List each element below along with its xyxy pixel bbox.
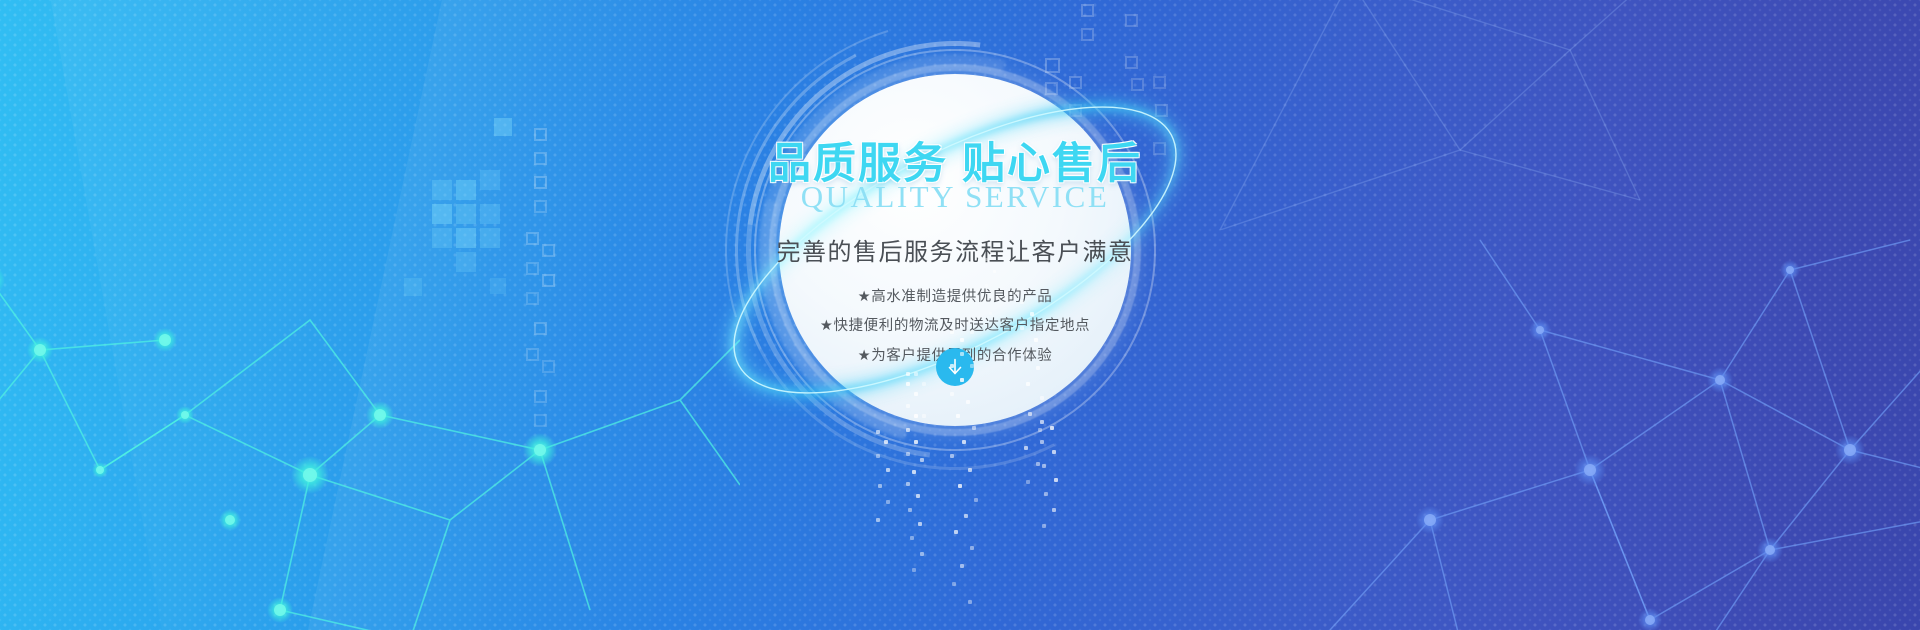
network-triangles-top-right (1100, 0, 1660, 230)
down-arrow-icon (944, 356, 966, 378)
background-sheen-1 (0, 0, 704, 630)
promo-banner: 品质服务贴心售后 QUALITY SERVICE 完善的售后服务流程让客户满意 … (0, 0, 1920, 630)
pixel-outline-column-left (520, 128, 580, 428)
pixel-square-cluster (432, 118, 552, 298)
background-sheen-2 (270, 0, 851, 630)
network-constellation-left (0, 220, 740, 630)
dot-stream-e (876, 430, 902, 580)
network-constellation-right (1290, 220, 1920, 630)
dot-stream-d (1040, 420, 1070, 580)
background-sheen-3 (49, 0, 710, 630)
scroll-down-button[interactable] (936, 348, 974, 386)
